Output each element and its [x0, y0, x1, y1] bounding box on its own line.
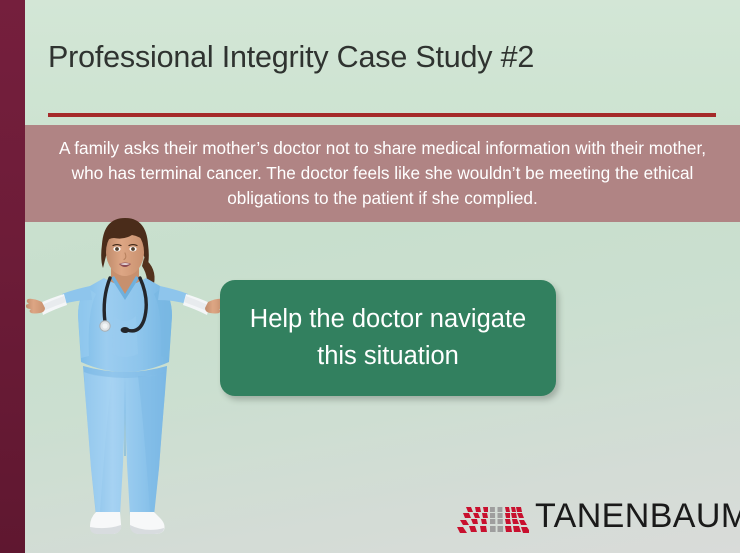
callout-box[interactable]: Help the doctor navigate this situation: [220, 280, 556, 396]
left-accent-stripe: [0, 0, 25, 553]
doctor-illustration: [26, 216, 224, 546]
callout-line-1: Help the doctor navigate: [250, 305, 526, 333]
description-band: A family asks their mother’s doctor not …: [25, 125, 740, 222]
slide-canvas: Professional Integrity Case Study #2 A f…: [0, 0, 740, 553]
tanenbaum-grid-mark-icon: [455, 496, 529, 536]
callout-text: Help the doctor navigate this situation: [238, 301, 538, 375]
tanenbaum-logo: TANENBAUM: [455, 494, 727, 538]
title-underline-rule: [48, 113, 716, 117]
title-band: Professional Integrity Case Study #2: [25, 0, 740, 125]
case-description-text: A family asks their mother’s doctor not …: [43, 136, 723, 211]
page-title: Professional Integrity Case Study #2: [48, 40, 534, 75]
logo-wordmark: TANENBAUM: [535, 499, 740, 533]
callout-line-2: this situation: [317, 342, 459, 370]
